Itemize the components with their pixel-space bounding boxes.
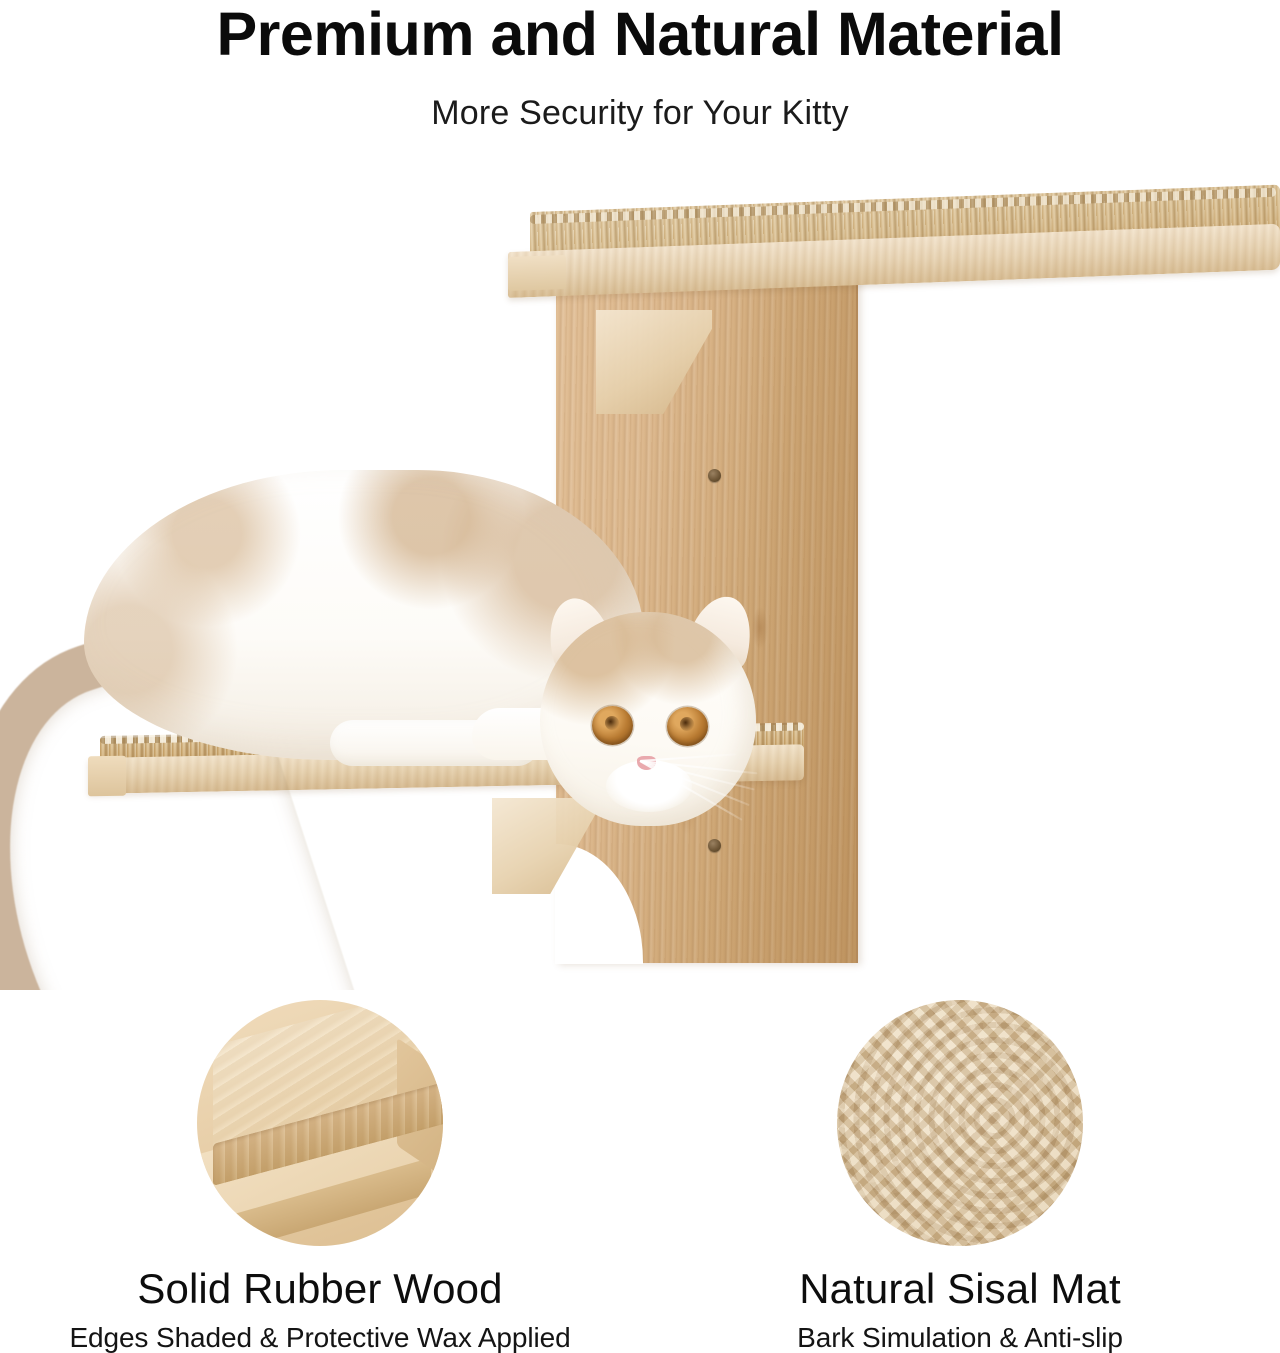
cat-eye-left [592, 706, 633, 745]
cat-whiskers [640, 760, 840, 880]
feature-subtitle: Edges Shaded & Protective Wax Applied [0, 1322, 640, 1353]
feature-natural-sisal-mat: Natural Sisal Mat Bark Simulation & Anti… [640, 1000, 1280, 1353]
feature-subtitle: Bark Simulation & Anti-slip [640, 1322, 1280, 1353]
cat-eye-right [667, 707, 708, 746]
hero-product-image [0, 160, 1280, 990]
feature-title: Natural Sisal Mat [640, 1266, 1280, 1312]
sisal-weave-icon [837, 1000, 1083, 1246]
cat-photo [0, 160, 1280, 990]
feature-solid-rubber-wood: Solid Rubber Wood Edges Shaded & Protect… [0, 1000, 640, 1353]
page-subtitle: More Security for Your Kitty [0, 94, 1280, 133]
product-feature-page: Premium and Natural Material More Securi… [0, 0, 1280, 1353]
feature-title: Solid Rubber Wood [0, 1266, 640, 1312]
page-title: Premium and Natural Material [0, 2, 1280, 66]
sisal-weave-texture [837, 1000, 1083, 1246]
wood-plank-icon [197, 1000, 443, 1246]
